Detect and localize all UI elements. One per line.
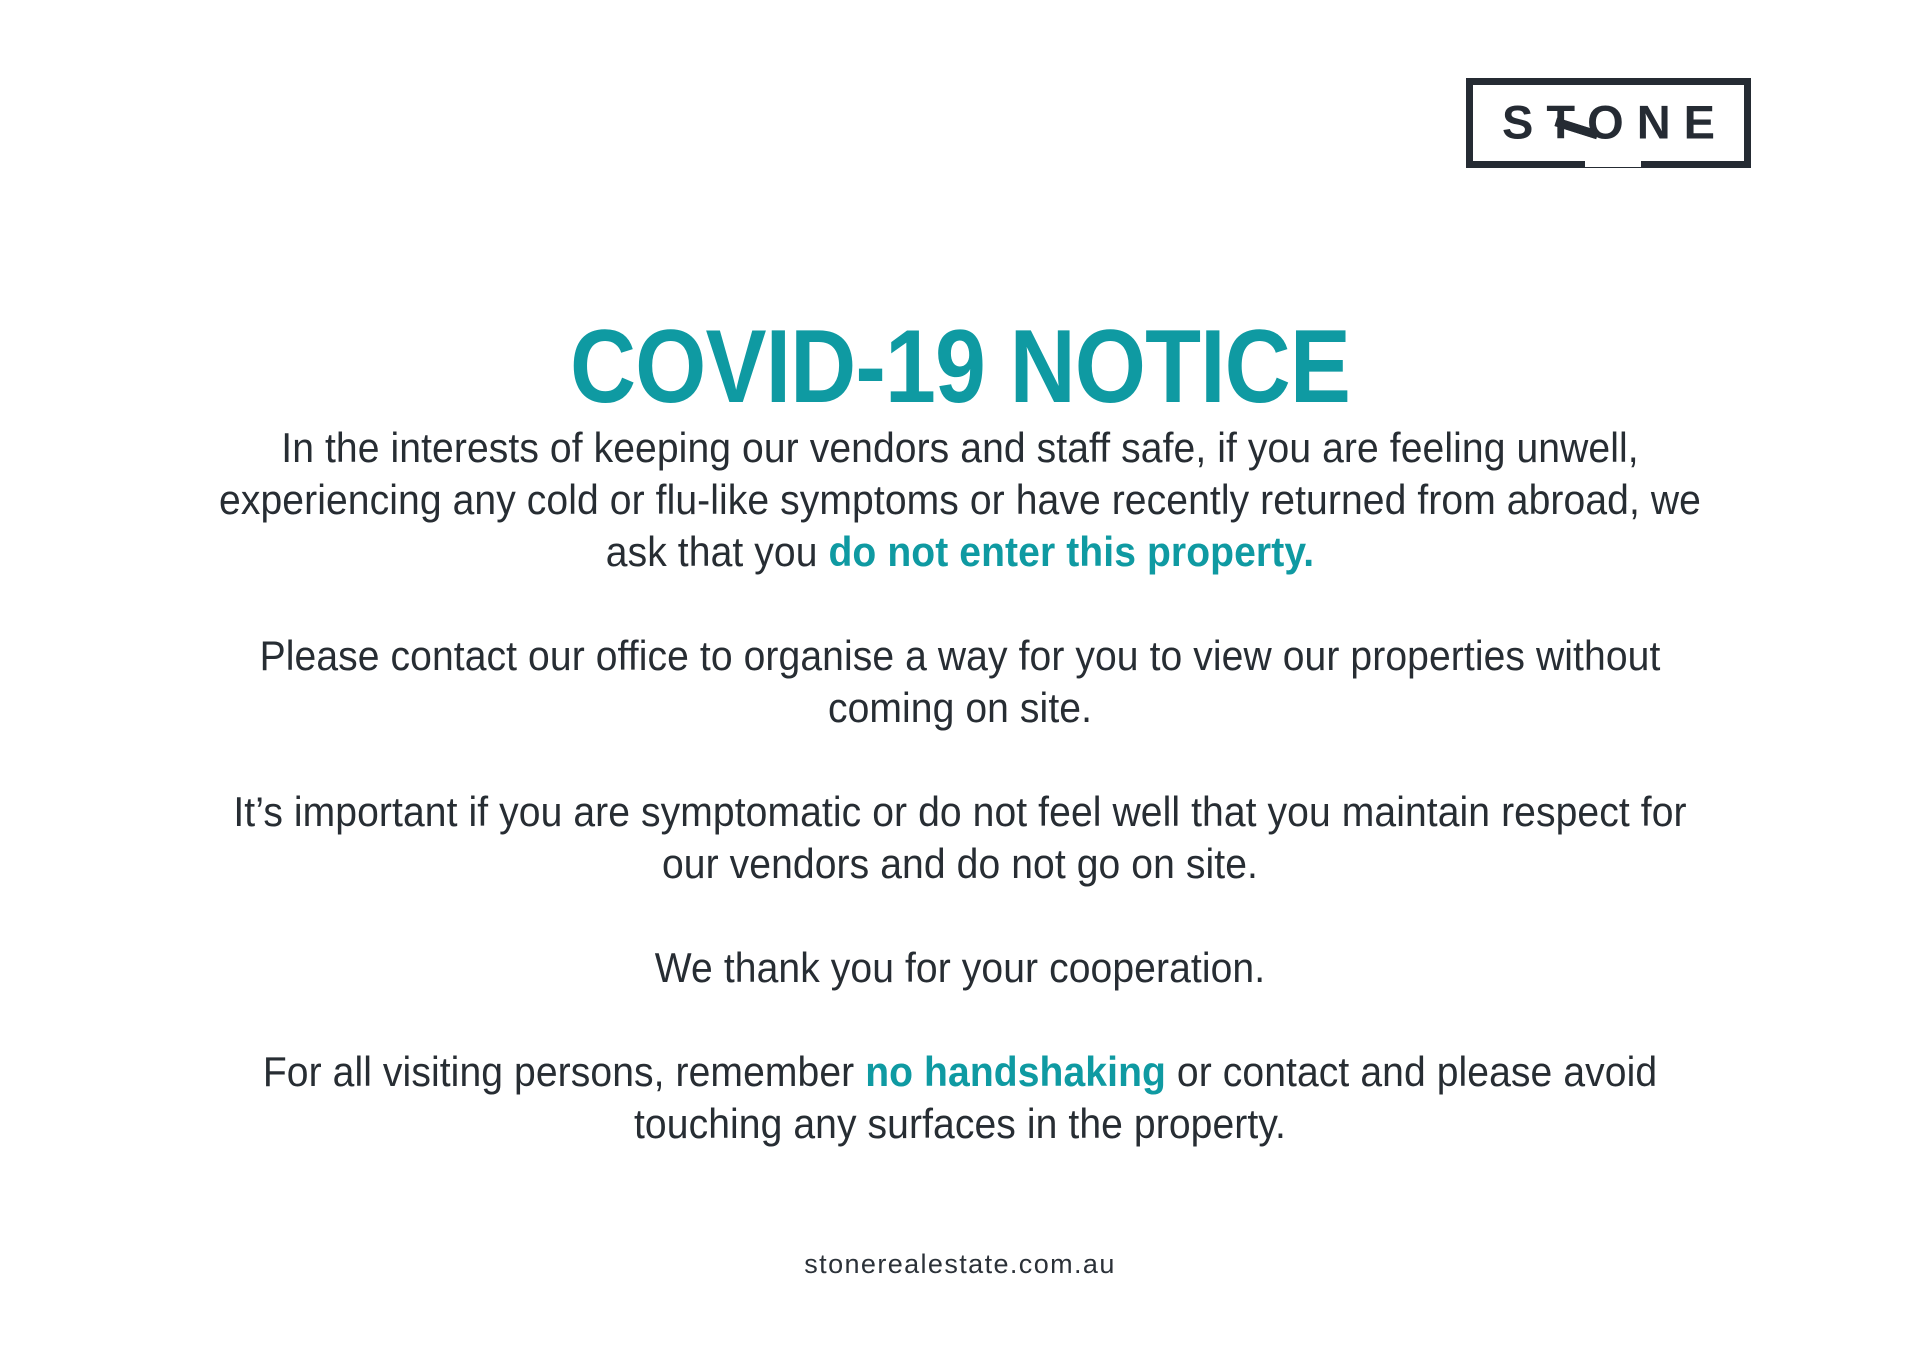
stone-logo: STONE — [1466, 78, 1758, 208]
text-run: In the interests of keeping our vendors … — [281, 424, 1638, 471]
paragraph-spacer — [188, 734, 1732, 786]
text-run: experiencing any cold or flu-like sympto… — [219, 476, 1701, 523]
paragraph-unwell-notice-line-2: experiencing any cold or flu-like sympto… — [188, 474, 1732, 526]
covid-19-notice-poster: STONE COVID-19 NOTICE In the interests o… — [0, 0, 1920, 1357]
text-run: coming on site. — [828, 684, 1092, 731]
text-run: touching any surfaces in the property. — [634, 1100, 1286, 1147]
paragraph-spacer — [188, 890, 1732, 942]
paragraph-spacer — [188, 994, 1732, 1046]
logo-wordmark: STONE — [1489, 99, 1728, 146]
logo-tail-mask — [1585, 157, 1641, 167]
text-run: We thank you for your cooperation. — [655, 944, 1265, 991]
notice-body: In the interests of keeping our vendors … — [130, 422, 1790, 1150]
page-title: COVID-19 NOTICE — [115, 313, 1805, 422]
text-run: Please contact our office to organise a … — [260, 632, 1661, 679]
highlight-do-not-enter: do not enter this property. — [828, 528, 1314, 575]
paragraph-unwell-notice-line-1: In the interests of keeping our vendors … — [188, 422, 1732, 474]
paragraph-unwell-notice-line-3: ask that you do not enter this property. — [188, 526, 1732, 578]
paragraph-no-handshaking-line-1: For all visiting persons, remember no ha… — [188, 1046, 1732, 1098]
paragraph-contact-office-line-2: coming on site. — [188, 682, 1732, 734]
paragraph-symptomatic-respect-line-2: our vendors and do not go on site. — [188, 838, 1732, 890]
paragraph-thank-you-line-1: We thank you for your cooperation. — [188, 942, 1732, 994]
text-run: or contact and please avoid — [1166, 1048, 1657, 1095]
logo-outline-box: STONE — [1466, 78, 1751, 168]
text-run: It’s important if you are symptomatic or… — [233, 788, 1686, 835]
paragraph-spacer — [188, 578, 1732, 630]
text-run: ask that you — [606, 528, 829, 575]
text-run: For all visiting persons, remember — [263, 1048, 865, 1095]
footer-website-url: stonerealestate.com.au — [0, 1249, 1920, 1280]
highlight-no-handshaking: no handshaking — [865, 1048, 1166, 1095]
text-run: our vendors and do not go on site. — [662, 840, 1258, 887]
paragraph-symptomatic-respect-line-1: It’s important if you are symptomatic or… — [188, 786, 1732, 838]
paragraph-no-handshaking-line-2: touching any surfaces in the property. — [188, 1098, 1732, 1150]
paragraph-contact-office-line-1: Please contact our office to organise a … — [188, 630, 1732, 682]
